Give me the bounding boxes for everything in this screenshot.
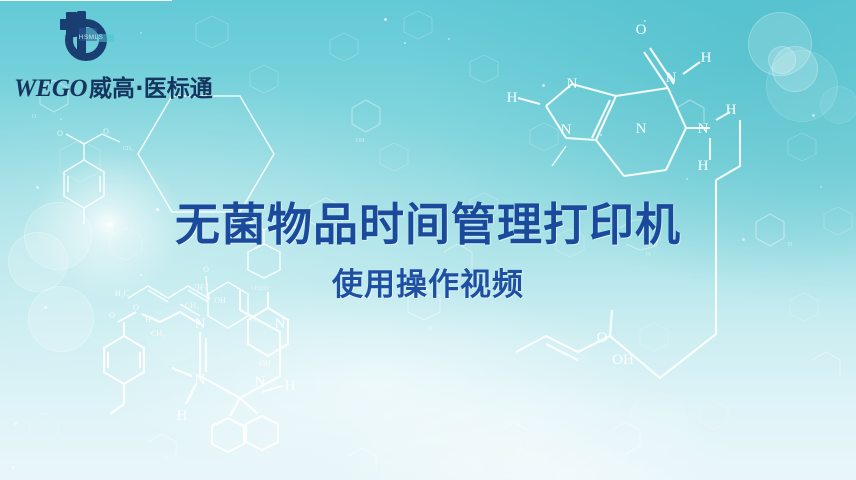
- brand-wordmark: WEGO 威高·医标通: [14, 69, 194, 103]
- video-title-card: O N H N N N: [0, 0, 856, 480]
- page-subtitle: 使用操作视频: [0, 259, 856, 304]
- wego-logo-mark: HSMLS: [58, 10, 194, 67]
- brand-logo[interactable]: HSMLS WEGO 威高·医标通: [14, 10, 194, 103]
- brand-latin-text: WEGO: [14, 75, 87, 103]
- title-block: 无菌物品时间管理打印机 使用操作视频: [0, 202, 856, 304]
- logo-mark-inner-text: HSMLS: [79, 34, 104, 41]
- brand-cn-text: 威高·医标通: [89, 69, 213, 103]
- page-title: 无菌物品时间管理打印机: [0, 202, 856, 248]
